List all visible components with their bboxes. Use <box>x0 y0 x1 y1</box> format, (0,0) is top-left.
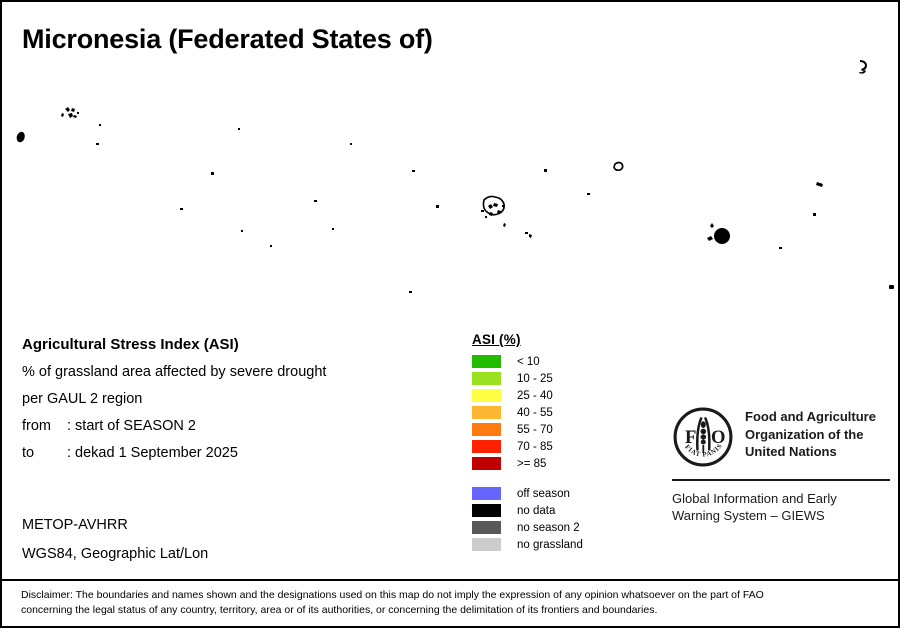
legend-item-no-data: no data <box>472 502 583 519</box>
legend: ASI (%) < 10 10 - 25 25 - 40 40 - 55 55 … <box>472 332 583 553</box>
description-line-2: per GAUL 2 region <box>22 391 442 407</box>
legend-spacer <box>472 472 583 485</box>
period-to-key: to <box>22 445 67 461</box>
legend-swatch-25-40 <box>472 389 501 402</box>
giews-line-1: Global Information and Early <box>672 490 892 507</box>
legend-swatch-55-70 <box>472 423 501 436</box>
period-to-value: : dekad 1 September 2025 <box>67 445 238 461</box>
legend-item-no-season-2: no season 2 <box>472 519 583 536</box>
legend-swatch-40-55 <box>472 406 501 419</box>
description-line-1: % of grassland area affected by severe d… <box>22 364 442 380</box>
legend-item-gte85: >= 85 <box>472 455 583 472</box>
island-shapes <box>2 60 898 320</box>
fao-name-line-1: Food and Agriculture <box>745 408 876 426</box>
legend-swatch-no-season-2 <box>472 521 501 534</box>
legend-label-gte85: >= 85 <box>517 458 546 470</box>
legend-label-25-40: 25 - 40 <box>517 390 553 402</box>
legend-label-40-55: 40 - 55 <box>517 407 553 419</box>
legend-item-no-grassland: no grassland <box>472 536 583 553</box>
period-from-key: from <box>22 418 67 434</box>
fao-logo-and-name: F O FIAT PANIS <box>672 406 892 468</box>
fao-divider <box>672 479 890 481</box>
svg-text:F: F <box>685 427 696 448</box>
disclaimer: Disclaimer: The boundaries and names sho… <box>21 588 881 618</box>
fao-branding: F O FIAT PANIS <box>672 406 892 525</box>
disclaimer-line-2: concerning the legal status of any count… <box>21 603 881 618</box>
description-block: Agricultural Stress Index (ASI) % of gra… <box>22 336 442 472</box>
legend-swatch-10-25 <box>472 372 501 385</box>
giews-line-2: Warning System – GIEWS <box>672 507 892 524</box>
legend-label-10-25: 10 - 25 <box>517 373 553 385</box>
map-poster: Micronesia (Federated States of) <box>0 0 900 628</box>
legend-item-70-85: 70 - 85 <box>472 438 583 455</box>
legend-label-off-season: off season <box>517 488 570 500</box>
legend-swatch-70-85 <box>472 440 501 453</box>
period-from: from: start of SEASON 2 <box>22 418 442 434</box>
disclaimer-line-1: Disclaimer: The boundaries and names sho… <box>21 588 881 603</box>
disclaimer-divider <box>2 579 898 581</box>
legend-item-55-70: 55 - 70 <box>472 421 583 438</box>
description-heading: Agricultural Stress Index (ASI) <box>22 336 442 353</box>
fao-logo-icon: F O FIAT PANIS <box>672 406 734 468</box>
legend-item-25-40: 25 - 40 <box>472 387 583 404</box>
legend-label-70-85: 70 - 85 <box>517 441 553 453</box>
giews-programme-name: Global Information and Early Warning Sys… <box>672 490 892 525</box>
sensor-label: METOP-AVHRR <box>22 517 208 533</box>
fao-name-line-3: United Nations <box>745 443 876 461</box>
legend-swatch-lt10 <box>472 355 501 368</box>
legend-item-40-55: 40 - 55 <box>472 404 583 421</box>
source-block: METOP-AVHRR WGS84, Geographic Lat/Lon <box>22 517 208 575</box>
legend-title: ASI (%) <box>472 332 583 347</box>
legend-label-no-grassland: no grassland <box>517 539 583 551</box>
legend-label-55-70: 55 - 70 <box>517 424 553 436</box>
legend-swatch-no-data <box>472 504 501 517</box>
page-title: Micronesia (Federated States of) <box>22 24 433 55</box>
fao-organization-name: Food and Agriculture Organization of the… <box>745 406 876 461</box>
period-from-value: : start of SEASON 2 <box>67 418 196 434</box>
legend-label-no-data: no data <box>517 505 555 517</box>
legend-swatch-off-season <box>472 487 501 500</box>
micronesia-island-map <box>2 60 898 320</box>
legend-label-no-season-2: no season 2 <box>517 522 580 534</box>
legend-item-off-season: off season <box>472 485 583 502</box>
legend-label-lt10: < 10 <box>517 356 540 368</box>
legend-item-lt10: < 10 <box>472 353 583 370</box>
fao-name-line-2: Organization of the <box>745 426 876 444</box>
period-to: to: dekad 1 September 2025 <box>22 445 442 461</box>
legend-swatch-gte85 <box>472 457 501 470</box>
legend-item-10-25: 10 - 25 <box>472 370 583 387</box>
projection-label: WGS84, Geographic Lat/Lon <box>22 546 208 562</box>
legend-swatch-no-grassland <box>472 538 501 551</box>
